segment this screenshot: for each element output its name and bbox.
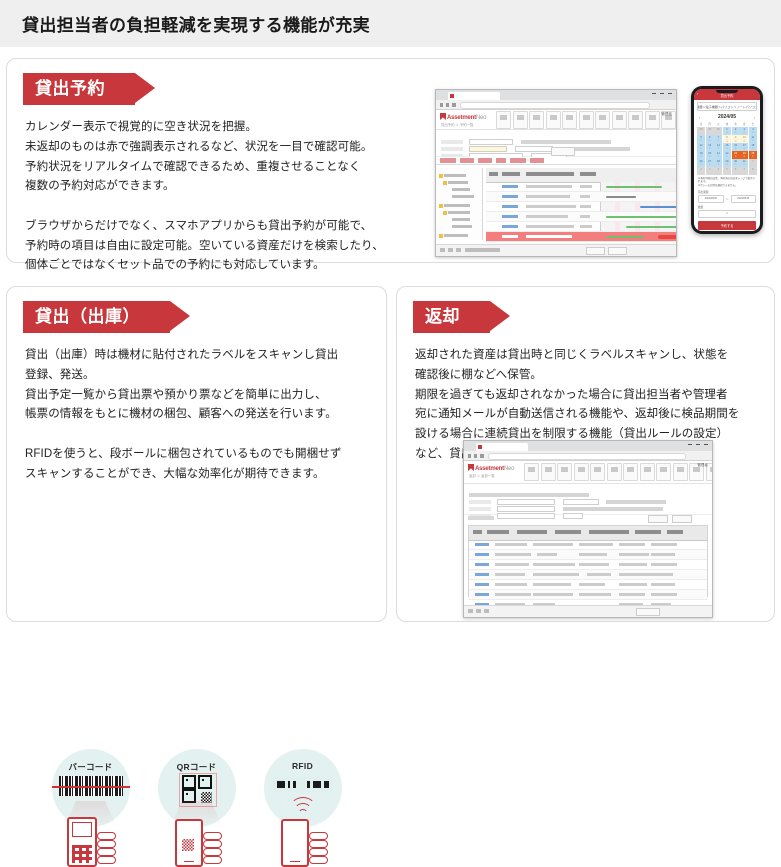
toolbar-button[interactable] — [623, 463, 638, 481]
calendar-weekday: 火 — [714, 122, 722, 127]
filter-panel-return — [464, 484, 712, 515]
calendar-day-cell: 4 — [714, 167, 722, 175]
table-row[interactable] — [469, 590, 707, 600]
toolbar-button[interactable] — [673, 463, 688, 481]
page-title: 貸出担当者の負担軽減を実現する機能が充実 — [22, 11, 370, 36]
calendar-day-cell[interactable]: 12○ — [697, 143, 705, 151]
calendar-day-cell: 5 — [723, 167, 731, 175]
toolbar-button[interactable] — [546, 111, 561, 129]
back-icon[interactable]: ‹ — [697, 92, 698, 96]
banner-wrap-lending: 貸出（出庫） — [7, 287, 386, 333]
calendar-day-cell[interactable]: 15○ — [723, 143, 731, 151]
calendar-day-cell[interactable]: 29○ — [723, 159, 731, 167]
browser-titlebar — [464, 441, 712, 451]
toolbar-button[interactable] — [628, 111, 643, 129]
calendar-weekday: 水 — [723, 122, 731, 127]
calendar-day-cell: 30 — [714, 127, 722, 135]
app-toolbar[interactable] — [496, 111, 677, 129]
calendar-day-cell[interactable]: 9△ — [732, 135, 740, 143]
scan-label: QRコード — [151, 761, 243, 773]
window-controls[interactable] — [652, 93, 672, 94]
range-from-input[interactable]: 2024/05/09 — [698, 195, 724, 203]
quantity-input[interactable]: 1 — [698, 210, 756, 218]
table-row[interactable] — [486, 192, 676, 202]
scanner-screen-icon — [72, 822, 92, 837]
breadcrumb-reservation: 貸出予約 ＞ 予約一覧 — [441, 122, 473, 127]
table-row[interactable] — [486, 182, 676, 192]
fingers-icon — [309, 831, 331, 865]
app-header-reservation: AssetmentNeo 貸出予約 ＞ 予約一覧 管理者 — [436, 110, 676, 130]
calendar-day-cell[interactable]: 20○ — [706, 151, 714, 159]
calendar-day-cell[interactable]: 13○ — [706, 143, 714, 151]
browser-urlbar[interactable] — [464, 451, 712, 461]
browser-url-input[interactable] — [488, 453, 686, 460]
calendar-weekday: 金 — [740, 122, 748, 127]
browser-screenshot-reservation: AssetmentNeo 貸出予約 ＞ 予約一覧 管理者 — [435, 89, 677, 257]
toolbar-button[interactable] — [640, 463, 655, 481]
section-banner-returning: 返却 — [413, 301, 490, 333]
toolbar-button[interactable] — [574, 463, 589, 481]
logo-mark-icon — [468, 464, 474, 471]
table-row[interactable] — [469, 550, 707, 560]
toolbar-button[interactable] — [496, 111, 511, 129]
browser-screenshot-return: AssetmentNeo 返却 ＞ 返却一覧 管理者 — [463, 440, 713, 618]
table-row-overdue[interactable] — [486, 232, 676, 242]
browser-tab[interactable] — [476, 443, 528, 451]
footer-button[interactable] — [608, 247, 627, 255]
calendar-day-cell[interactable]: 11○ — [749, 135, 757, 143]
calendar-day-cell[interactable]: 25× — [749, 151, 757, 159]
app-logo: AssetmentNeo — [468, 464, 514, 472]
hand-holding-phone-icon — [273, 819, 333, 867]
range-to-input[interactable]: 2024/05/15 — [731, 195, 757, 203]
section-body-lending: 貸出（出庫）時は機材に貼付されたラベルをスキャンし貸出 登録、発送。 貸出予定一… — [7, 333, 386, 484]
calendar-day-cell: 8 — [749, 167, 757, 175]
calendar-day-cell[interactable]: 10△ — [740, 135, 748, 143]
app-toolbar[interactable] — [524, 463, 713, 481]
prev-month-button[interactable]: ‹ — [699, 115, 700, 120]
grid-header-row — [486, 168, 676, 183]
table-row[interactable] — [486, 212, 676, 222]
scanner-keypad-icon — [72, 845, 92, 863]
smartphone-icon — [281, 819, 309, 867]
calendar-day-cell[interactable]: 1○ — [723, 127, 731, 135]
toolbar-button[interactable] — [557, 463, 572, 481]
browser-tab[interactable] — [448, 92, 500, 100]
toolbar-button[interactable] — [590, 463, 605, 481]
browser-tab-favicon — [450, 94, 454, 98]
app-logo: AssetmentNeo — [440, 113, 486, 121]
banner-wrap-returning: 返却 — [397, 287, 774, 333]
calendar-day-cell[interactable]: 5○ — [697, 135, 705, 143]
handheld-scanner-icon — [67, 817, 97, 867]
section-banner-reservation: 貸出予約 — [23, 73, 135, 105]
table-row[interactable] — [469, 570, 707, 580]
scan-label: RFID — [257, 761, 349, 771]
calendar-day-cell: 1 — [749, 159, 757, 167]
calendar-day-cell[interactable]: 17○ — [740, 143, 748, 151]
scan-method-rfid: RFID — [257, 749, 349, 867]
hand-holding-scanner-icon — [61, 819, 121, 867]
logo-mark-icon — [440, 113, 446, 120]
app-header-return: AssetmentNeo 返却 ＞ 返却一覧 管理者 — [464, 461, 712, 484]
current-month-label: 2024/05 — [718, 114, 736, 120]
calendar-day-cell[interactable]: 24× — [740, 151, 748, 159]
calendar-day-cell: 7 — [740, 167, 748, 175]
breadcrumb-return: 返却 ＞ 返却一覧 — [469, 473, 495, 478]
smartphone-icon — [175, 819, 203, 867]
fingers-icon — [97, 831, 119, 865]
phone-screen: ‹ 貸出予約 MR機器＞電子機器＞パソコン＞ノートパソコン Z3 ‹ 2024/… — [694, 89, 760, 231]
calendar-day-cell[interactable]: 16○ — [732, 143, 740, 151]
calendar-day-cell: 3 — [706, 167, 714, 175]
calendar-month-nav: ‹ 2024/05 › — [694, 113, 760, 122]
calendar-day-cell[interactable]: 30○ — [732, 159, 740, 167]
browser-nav-icons[interactable] — [440, 103, 456, 107]
toolbar-button[interactable] — [656, 463, 671, 481]
period-range: 2024/05/09 ～ 2024/05/15 — [694, 194, 760, 203]
next-month-button[interactable]: › — [754, 115, 755, 120]
calendar-day-cell[interactable]: 3○ — [740, 127, 748, 135]
search-button[interactable] — [551, 147, 575, 156]
browser-url-input[interactable] — [460, 102, 650, 109]
qr-code-icon — [182, 775, 212, 803]
calendar-note: ※予約可能日は青、予約済の日はオレンジで表示されます。 ※グレーの日付は選択でき… — [694, 175, 760, 188]
calendar-day-cell[interactable]: 14○ — [714, 143, 722, 151]
card-reservation: 貸出予約 カレンダー表示で視覚的に空き状況を把握。 未返却のものは赤で強調表示さ… — [6, 58, 775, 263]
browser-tab-favicon — [478, 445, 482, 449]
calendar-day-cell: 6 — [732, 167, 740, 175]
calendar-day-cell[interactable]: 2○ — [732, 127, 740, 135]
scan-method-barcode: バーコード — [45, 749, 137, 867]
toolbar-button[interactable] — [513, 111, 528, 129]
table-row[interactable] — [469, 560, 707, 570]
pagination[interactable] — [440, 248, 500, 252]
status-tabs[interactable] — [436, 157, 676, 165]
toolbar-button[interactable] — [529, 111, 544, 129]
section-banner-lending: 貸出（出庫） — [23, 301, 170, 333]
card-lending: 貸出（出庫） 貸出（出庫）時は機材に貼付されたラベルをスキャンし貸出 登録、発送… — [6, 286, 387, 622]
calendar-weekday: 土 — [749, 122, 757, 127]
calendar-day-cell[interactable]: 19○ — [697, 151, 705, 159]
calendar-day-cell[interactable]: 4○ — [749, 127, 757, 135]
pagination[interactable] — [468, 609, 490, 613]
footer-button[interactable] — [586, 247, 605, 255]
reservation-gantt-grid[interactable] — [486, 168, 676, 240]
export-button[interactable] — [672, 515, 692, 523]
calendar-day-cell[interactable]: 8△ — [723, 135, 731, 143]
calendar-day-cell[interactable]: 22○ — [723, 151, 731, 159]
home-indicator-icon — [290, 861, 300, 862]
toolbar-button[interactable] — [645, 111, 660, 129]
calendar-day-cell: 29 — [706, 127, 714, 135]
toolbar-button[interactable] — [595, 111, 610, 129]
toolbar-button[interactable] — [524, 463, 539, 481]
calendar-day-cell[interactable]: 7○ — [714, 135, 722, 143]
calendar-day-cell[interactable]: 18○ — [749, 143, 757, 151]
calendar-day-cell[interactable]: 21○ — [714, 151, 722, 159]
calendar-day-cell[interactable]: 31○ — [740, 159, 748, 167]
browser-urlbar[interactable] — [436, 100, 676, 110]
app-title: 貸出予約 — [721, 93, 734, 98]
grid-toolbar-return[interactable] — [464, 515, 712, 523]
browser-titlebar — [436, 90, 676, 100]
calendar-day-cell[interactable]: 28○ — [714, 159, 722, 167]
app-footer-return — [464, 605, 712, 617]
page-header: 貸出担当者の負担軽減を実現する機能が充実 — [0, 0, 781, 47]
toolbar-button[interactable] — [612, 111, 627, 129]
card-returning: 返却 返却された資産は貸出時と同じくラベルスキャンし、状態を 確認後に棚などへ保… — [396, 286, 775, 622]
fingers-icon — [203, 831, 225, 865]
browser-nav-icons[interactable] — [468, 454, 484, 458]
home-indicator-icon — [184, 861, 194, 862]
filter-panel-reservation — [436, 130, 676, 157]
account-label[interactable]: 管理者 — [697, 463, 708, 468]
table-row[interactable] — [469, 540, 707, 550]
scan-label: バーコード — [45, 761, 137, 773]
section-body-reservation: カレンダー表示で視覚的に空き状況を把握。 未返却のものは赤で強調表示されるなど、… — [7, 105, 425, 276]
hand-holding-phone-icon — [167, 819, 227, 867]
calendar-weekday: 月 — [706, 122, 714, 127]
window-controls[interactable] — [688, 444, 708, 445]
calendar-weekday: 木 — [732, 122, 740, 127]
toolbar-button[interactable] — [541, 463, 556, 481]
calendar-day-cell: 2 — [697, 167, 705, 175]
table-row[interactable] — [486, 202, 676, 212]
phone-notch — [716, 90, 738, 93]
toolbar-button[interactable] — [579, 111, 594, 129]
search-button[interactable] — [648, 515, 668, 523]
calendar-day-cell: 28 — [697, 127, 705, 135]
table-row[interactable] — [469, 580, 707, 590]
scan-method-qr: QRコード — [151, 749, 243, 867]
grid-header-row — [469, 526, 707, 541]
asset-selector[interactable]: MR機器＞電子機器＞パソコン＞ノートパソコン Z3 — [697, 102, 757, 111]
range-separator: ～ — [726, 197, 729, 201]
toolbar-button[interactable] — [607, 463, 622, 481]
calendar-day-cell[interactable]: 26○ — [697, 159, 705, 167]
toolbar-button[interactable] — [562, 111, 577, 129]
phone-screenshot-reservation: ‹ 貸出予約 MR機器＞電子機器＞パソコン＞ノートパソコン Z3 ‹ 2024/… — [691, 86, 763, 234]
calendar-weekday: 日 — [697, 122, 705, 127]
calendar-grid[interactable]: 日月火水木金土2829301○2○3○4○5○6○7○8△9△10△11○12○… — [694, 122, 760, 175]
category-tree-panel[interactable] — [436, 168, 483, 240]
reserve-button[interactable]: 予約する — [698, 221, 756, 230]
barcode-scan-line-icon — [52, 786, 130, 788]
return-list-grid[interactable] — [468, 525, 708, 597]
bulk-return-button[interactable] — [636, 608, 660, 616]
table-row[interactable] — [486, 222, 676, 232]
qr-mini-icon — [182, 839, 194, 851]
calendar-day-cell[interactable]: 27○ — [706, 159, 714, 167]
quantity-label: 数量 — [694, 203, 760, 209]
rfid-tag-icon — [273, 777, 333, 792]
calendar-day-cell[interactable]: 6○ — [706, 135, 714, 143]
account-label[interactable]: 管理者 — [661, 112, 672, 117]
app-footer-reservation — [436, 244, 676, 256]
scan-methods-row: バーコード QRコード — [7, 749, 386, 867]
calendar-day-cell[interactable]: 23× — [732, 151, 740, 159]
